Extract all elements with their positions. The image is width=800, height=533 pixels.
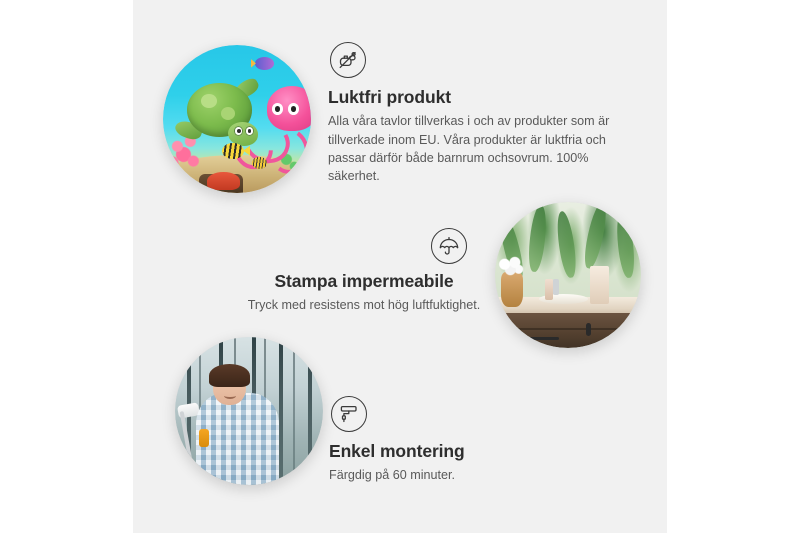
feature-body: Alla våra tavlor tillverkas i och av pro… bbox=[328, 112, 624, 186]
umbrella-icon bbox=[431, 228, 467, 264]
leaf-frond bbox=[582, 202, 610, 270]
purple-fish bbox=[255, 57, 274, 70]
vanity-cabinet bbox=[498, 313, 641, 348]
feature-body: Färgdig på 60 minuter. bbox=[329, 466, 609, 484]
photo-ocean[interactable] bbox=[163, 45, 311, 193]
feature-odourless: Luktfri produkt Alla våra tavlor tillver… bbox=[328, 42, 624, 186]
feature-title: Luktfri produkt bbox=[328, 87, 624, 107]
leaf-frond bbox=[614, 210, 636, 278]
crab bbox=[207, 172, 240, 190]
leaf-frond bbox=[555, 210, 579, 279]
leaf-frond bbox=[527, 204, 549, 272]
content-panel: Luktfri produkt Alla våra tavlor tillver… bbox=[133, 0, 667, 533]
octopus-eye-left bbox=[272, 103, 283, 115]
soap-bottle bbox=[545, 279, 554, 299]
pink-coral bbox=[166, 134, 204, 175]
feature-title: Enkel montering bbox=[329, 441, 609, 461]
faucet bbox=[553, 279, 559, 295]
cabinet-seam bbox=[498, 328, 641, 330]
person-smile bbox=[224, 393, 236, 399]
feature-easy-mount: Enkel montering Färgdig på 60 minuter. bbox=[329, 396, 609, 485]
no-fragrance-icon bbox=[330, 42, 366, 78]
photo-installer-inner bbox=[175, 337, 323, 485]
photo-installer[interactable] bbox=[175, 337, 323, 485]
paint-roller-icon bbox=[331, 396, 367, 432]
tree-trunk bbox=[293, 337, 295, 485]
tree-trunk bbox=[308, 337, 312, 485]
screenshot-stage: Luktfri produkt Alla våra tavlor tillver… bbox=[0, 0, 800, 533]
drawer-handle bbox=[519, 337, 558, 340]
photo-ocean-inner bbox=[163, 45, 311, 193]
feature-body: Tryck med resistens mot hög luftfuktighe… bbox=[205, 296, 523, 314]
small-yellow-fish bbox=[252, 157, 267, 169]
tree-trunk bbox=[279, 337, 283, 485]
feature-title: Stampa impermeabile bbox=[205, 271, 523, 291]
octopus-eye-right bbox=[288, 103, 299, 115]
feature-waterproof: Stampa impermeabile Tryck med resistens … bbox=[205, 228, 523, 315]
feature-icon-wrap bbox=[205, 228, 523, 264]
rolled-towel bbox=[590, 266, 609, 304]
door-handle bbox=[586, 323, 591, 336]
person-hair bbox=[209, 364, 250, 388]
paint-roller-grip bbox=[199, 429, 209, 447]
octopus-head bbox=[267, 86, 311, 130]
